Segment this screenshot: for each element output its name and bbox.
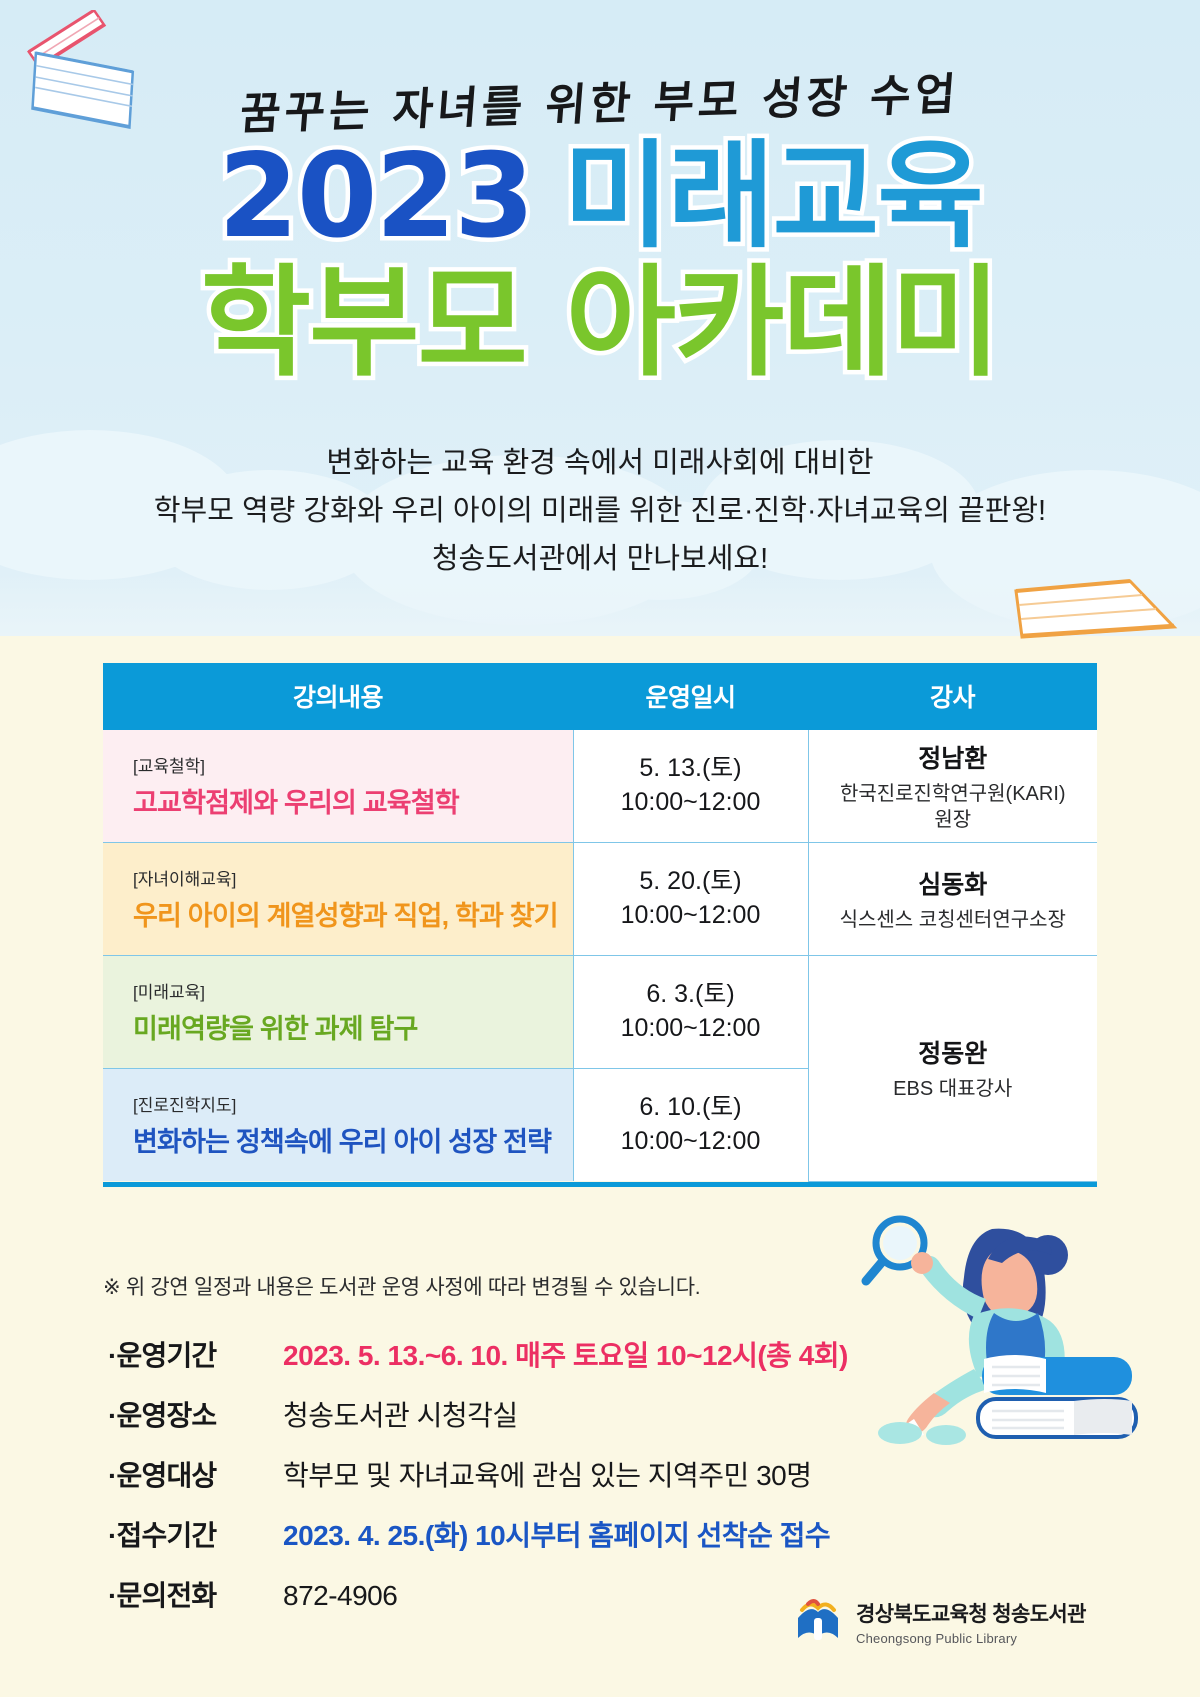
instructor-name: 심동화 — [819, 865, 1088, 901]
title-year: 2023 — [218, 129, 533, 264]
table-header-row: 강의내용 운영일시 강사 — [103, 663, 1097, 730]
table-row: [미래교육] 미래역량을 위한 과제 탐구 6. 3.(토) 10:00~12:… — [103, 956, 1097, 1069]
detail-label: ·운영기간 — [108, 1334, 283, 1374]
detail-value: 학부모 및 자녀교육에 관심 있는 지역주민 30명 — [283, 1454, 812, 1494]
cell-instructor-merged: 정동완 EBS 대표강사 — [808, 956, 1097, 1182]
list-item: ·접수기간 2023. 4. 25.(화) 10시부터 홈페이지 선착순 접수 — [108, 1514, 848, 1554]
table-body: [교육철학] 고교학점제와 우리의 교육철학 5. 13.(토) 10:00~1… — [103, 730, 1097, 1181]
list-item: ·문의전화 872-4906 — [108, 1574, 848, 1614]
cell-datetime: 5. 20.(토) 10:00~12:00 — [573, 843, 808, 956]
schedule-table: 강의내용 운영일시 강사 [교육철학] 고교학점제와 우리의 교육철학 5. 1… — [103, 663, 1097, 1182]
instructor-affiliation: 한국진로진학연구원(KARI) 원장 — [819, 781, 1088, 833]
topic-category: [미래교육] — [133, 978, 573, 1003]
instructor-name: 정동완 — [819, 1034, 1088, 1070]
table-header: 강의내용 운영일시 강사 — [103, 663, 1097, 730]
session-date: 6. 10.(토) — [574, 1091, 808, 1125]
list-item: ·운영대상 학부모 및 자녀교육에 관심 있는 지역주민 30명 — [108, 1454, 848, 1494]
cell-topic: [미래교육] 미래역량을 위한 과제 탐구 — [103, 956, 573, 1069]
cell-instructor: 심동화 식스센스 코칭센터연구소장 — [808, 843, 1097, 956]
title-line-1: 2023 미래교육 — [0, 138, 1200, 255]
session-time: 10:00~12:00 — [574, 1012, 808, 1046]
title-future: 미래교육 — [563, 129, 982, 264]
cell-topic: [자녀이해교육] 우리 아이의 계열성향과 직업, 학과 찾기 — [103, 843, 573, 956]
table-row: [교육철학] 고교학점제와 우리의 교육철학 5. 13.(토) 10:00~1… — [103, 730, 1097, 843]
detail-value: 2023. 4. 25.(화) 10시부터 홈페이지 선착순 접수 — [283, 1514, 830, 1554]
session-time: 10:00~12:00 — [574, 1125, 808, 1159]
topic-category: [진로진학지도] — [133, 1091, 573, 1116]
instructor-affiliation-line-2: 원장 — [819, 807, 1088, 833]
topic-title: 고교학점제와 우리의 교육철학 — [133, 781, 573, 820]
topic-category: [자녀이해교육] — [133, 865, 573, 890]
poster-root: 꿈꾸는 자녀를 위한 부모 성장 수업 2023 미래교육 학부모 아카데미 변… — [0, 0, 1200, 1697]
intro-line-3: 청송도서관에서 만나보세요! — [0, 536, 1200, 584]
hand — [911, 1252, 933, 1274]
logo-title-ko: 경상북도교육청 청송도서관 — [856, 1598, 1086, 1628]
topic-category: [교육철학] — [133, 752, 573, 777]
cell-topic: [교육철학] 고교학점제와 우리의 교육철학 — [103, 730, 573, 843]
intro-paragraph: 변화하는 교육 환경 속에서 미래사회에 대비한 학부모 역량 강화와 우리 아… — [0, 440, 1200, 584]
detail-label: ·운영대상 — [108, 1454, 283, 1494]
instructor-name: 정남환 — [819, 739, 1088, 775]
intro-line-2: 학부모 역량 강화와 우리 아이의 미래를 위한 진로·진학·자녀교육의 끝판왕… — [0, 488, 1200, 536]
book-stack-bottom — [978, 1399, 1136, 1437]
title-line-2: 학부모 아카데미 — [0, 263, 1200, 384]
logo-text: 경상북도교육청 청송도서관 Cheongsong Public Library — [856, 1598, 1086, 1646]
cell-topic: [진로진학지도] 변화하는 정책속에 우리 아이 성장 전략 — [103, 1069, 573, 1182]
session-date: 5. 13.(토) — [574, 752, 808, 786]
schedule-table-container: 강의내용 운영일시 강사 [교육철학] 고교학점제와 우리의 교육철학 5. 1… — [103, 663, 1097, 1187]
detail-label: ·문의전화 — [108, 1574, 283, 1614]
cell-instructor: 정남환 한국진로진학연구원(KARI) 원장 — [808, 730, 1097, 843]
session-time: 10:00~12:00 — [574, 786, 808, 820]
intro-line-1: 변화하는 교육 환경 속에서 미래사회에 대비한 — [0, 440, 1200, 488]
column-header-instructor: 강사 — [808, 663, 1097, 730]
instructor-affiliation-line-1: 한국진로진학연구원(KARI) — [819, 781, 1088, 807]
cell-datetime: 6. 3.(토) 10:00~12:00 — [573, 956, 808, 1069]
instructor-affiliation: 식스센스 코칭센터연구소장 — [819, 907, 1088, 933]
detail-value: 2023. 5. 13.~6. 10. 매주 토요일 10~12시(총 4회) — [283, 1334, 848, 1374]
list-item: ·운영기간 2023. 5. 13.~6. 10. 매주 토요일 10~12시(… — [108, 1334, 848, 1374]
book-stack-top — [982, 1355, 1132, 1395]
session-time: 10:00~12:00 — [574, 899, 808, 933]
session-date: 5. 20.(토) — [574, 865, 808, 899]
details-list: ·운영기간 2023. 5. 13.~6. 10. 매주 토요일 10~12시(… — [108, 1334, 848, 1634]
title-parent-academy: 학부모 아카데미 — [201, 254, 1000, 393]
library-logo: 경상북도교육청 청송도서관 Cheongsong Public Library — [792, 1596, 1086, 1648]
shoe — [926, 1425, 966, 1445]
page-title: 2023 미래교육 학부모 아카데미 — [0, 138, 1200, 384]
schedule-note: ※ 위 강연 일정과 내용은 도서관 운영 사정에 따라 변경될 수 있습니다. — [103, 1271, 700, 1301]
topic-title: 변화하는 정책속에 우리 아이 성장 전략 — [133, 1120, 573, 1159]
topic-title: 미래역량을 위한 과제 탐구 — [133, 1007, 573, 1046]
logo-title-en: Cheongsong Public Library — [856, 1631, 1086, 1646]
open-book-icon — [1010, 575, 1180, 670]
shoe — [878, 1422, 922, 1444]
list-item: ·운영장소 청송도서관 시청각실 — [108, 1394, 848, 1434]
cell-datetime: 5. 13.(토) 10:00~12:00 — [573, 730, 808, 843]
instructor-affiliation: EBS 대표강사 — [819, 1076, 1088, 1102]
logo-mark-icon — [792, 1596, 844, 1648]
topic-title: 우리 아이의 계열성향과 직업, 학과 찾기 — [133, 894, 573, 933]
column-header-datetime: 운영일시 — [573, 663, 808, 730]
detail-label: ·접수기간 — [108, 1514, 283, 1554]
detail-value: 872-4906 — [283, 1580, 397, 1612]
column-header-topic: 강의내용 — [103, 663, 573, 730]
detail-label: ·운영장소 — [108, 1394, 283, 1434]
girl-reading-illustration — [842, 1207, 1142, 1447]
cell-datetime: 6. 10.(토) 10:00~12:00 — [573, 1069, 808, 1182]
instructor-affiliation-line-1: 식스센스 코칭센터연구소장 — [819, 907, 1088, 933]
session-date: 6. 3.(토) — [574, 978, 808, 1012]
table-bottom-rule — [103, 1182, 1097, 1187]
detail-value: 청송도서관 시청각실 — [283, 1394, 518, 1434]
table-row: [자녀이해교육] 우리 아이의 계열성향과 직업, 학과 찾기 5. 20.(토… — [103, 843, 1097, 956]
